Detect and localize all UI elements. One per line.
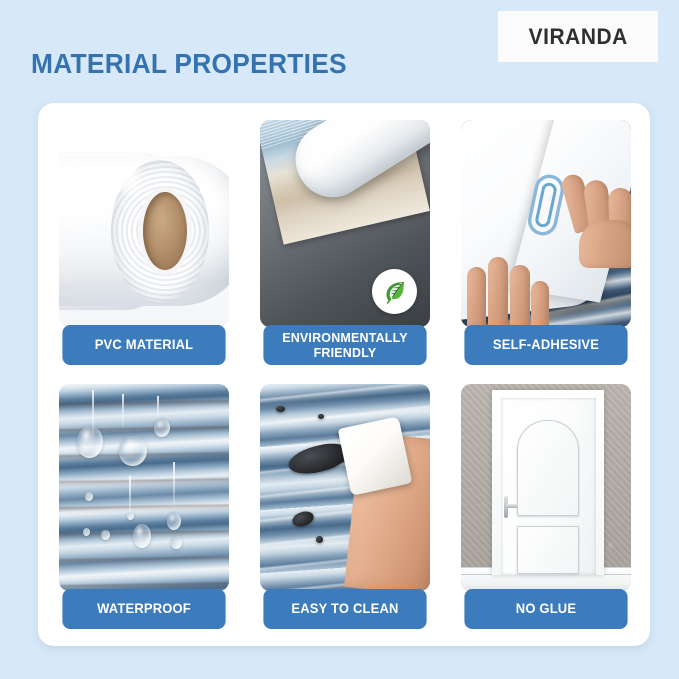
brand-logo: VIRANDA: [498, 11, 658, 62]
feature-tile-pvc-material[interactable]: PVC MATERIAL: [59, 120, 229, 365]
feature-label-easy-to-clean: EASY TO CLEAN: [263, 589, 426, 629]
door-handle: [506, 504, 518, 508]
white-door: [501, 398, 596, 575]
leaf-icon: [381, 278, 409, 306]
feature-tile-easy-to-clean[interactable]: EASY TO CLEAN: [260, 384, 430, 629]
water-droplet: [154, 418, 170, 437]
feature-label-self-adhesive: SELF-ADHESIVE: [464, 325, 627, 365]
water-droplet: [83, 528, 90, 536]
door-panel-top: [517, 420, 579, 516]
droplet-trail: [173, 462, 175, 508]
header: MATERIAL PROPERTIES VIRANDA: [0, 0, 679, 103]
water-droplet: [167, 512, 181, 530]
pvc-cardboard-core: [143, 192, 187, 270]
page-title: MATERIAL PROPERTIES: [31, 48, 347, 80]
pvc-roll-image: [59, 120, 229, 327]
water-droplet: [77, 426, 103, 458]
feature-label-waterproof: WATERPROOF: [62, 589, 225, 629]
stain-mark: [276, 406, 285, 412]
feature-label-no-glue: NO GLUE: [464, 589, 627, 629]
door-frame: [492, 390, 604, 575]
feature-tile-no-glue[interactable]: NO GLUE: [461, 384, 631, 629]
leaf-icon-badge: [372, 269, 417, 314]
water-droplet: [101, 530, 110, 540]
feature-tile-waterproof[interactable]: WATERPROOF: [59, 384, 229, 629]
feature-grid: PVC MATERIAL: [38, 103, 650, 646]
waterproof-image: [59, 384, 229, 591]
eco-wallpaper-image: [260, 120, 430, 327]
water-droplet: [85, 492, 93, 501]
door-panel-bottom: [517, 526, 579, 574]
feature-label-environmentally-friendly: ENVIRONMENTALLY FRIENDLY: [263, 325, 426, 365]
droplet-trail: [122, 394, 124, 428]
feature-card: PVC MATERIAL: [38, 103, 650, 646]
easy-to-clean-image: [260, 384, 430, 591]
waterproof-background: [59, 384, 229, 591]
right-hand: [561, 174, 631, 266]
no-glue-image: [461, 384, 631, 591]
stain-mark: [316, 536, 323, 543]
water-droplet: [119, 436, 147, 466]
self-adhesive-image: [461, 120, 631, 327]
water-droplet: [171, 536, 182, 549]
brand-logo-text: VIRANDA: [528, 24, 627, 50]
pvc-gloss-highlight: [59, 164, 139, 192]
water-droplet: [127, 512, 134, 520]
stain-mark: [318, 414, 324, 419]
feature-label-pvc-material: PVC MATERIAL: [62, 325, 225, 365]
left-hand: [465, 241, 549, 327]
feature-tile-environmentally-friendly[interactable]: ENVIRONMENTALLY FRIENDLY: [260, 120, 430, 365]
water-droplet: [133, 524, 151, 548]
feature-tile-self-adhesive[interactable]: SELF-ADHESIVE: [461, 120, 631, 365]
